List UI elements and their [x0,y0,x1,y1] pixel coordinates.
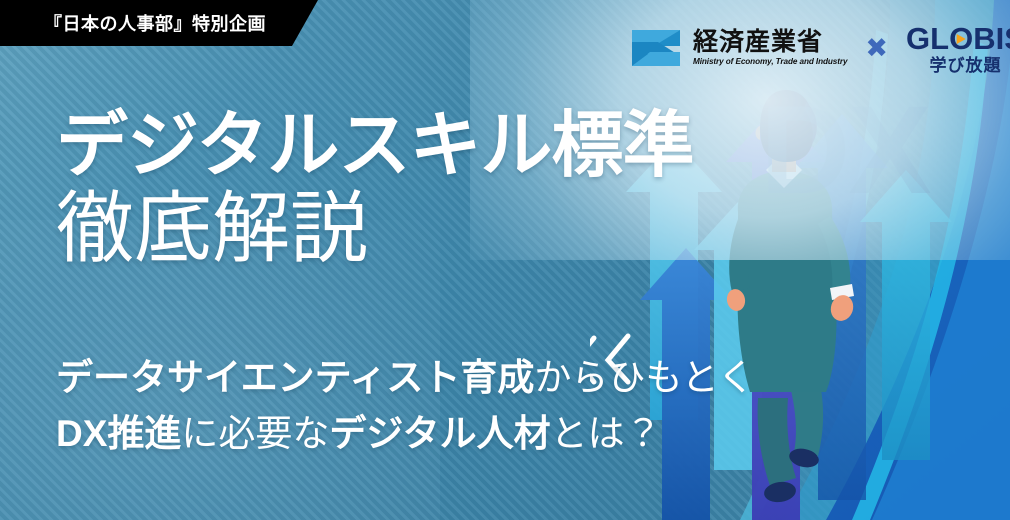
ribbon-label: 『日本の人事部』特別企画 [44,10,266,36]
subtitle-line-1-bold: データサイエンティスト育成 [56,357,534,398]
play-triangle-icon [957,34,966,44]
globis-word-part-bis: BIS [973,23,1010,54]
subtitle-line-2-bold-a: DX推進 [56,413,181,454]
globis-word-part-o: O [949,23,973,54]
meti-logo[interactable]: 経済産業省 Ministry of Economy, Trade and Ind… [628,22,847,74]
meti-logo-icon [628,22,684,74]
globis-wordmark: GL O BIS [906,23,1010,54]
subtitle-block: データサイエンティスト育成からひもとく DX推進に必要なデジタル人材とは？ [56,350,755,462]
partner-logo-row: 経済産業省 Ministry of Economy, Trade and Ind… [628,22,1010,74]
globis-logo[interactable]: GL O BIS 学び放題 [906,23,1010,74]
subtitle-line-2: DX推進に必要なデジタル人材とは？ [56,406,755,462]
globis-word-part-gl: GL [906,23,949,54]
meti-name-jp: 経済産業省 [693,30,847,55]
subtitle-line-1-light: からひもとく [534,357,754,398]
headline-line-2: 徹底解説 [56,188,694,270]
meti-name-en: Ministry of Economy, Trade and Industry [693,58,847,66]
subtitle-line-2-light-a: に必要な [181,413,329,454]
promo-banner: DX 『日本の人事部』特別企画 経済産業省 Ministry of Econom… [0,0,1010,520]
page-title: デジタルスキル標準 徹底解説 [56,110,694,270]
subtitle-line-1: データサイエンティスト育成からひもとく [56,350,755,406]
subtitle-line-2-light-b: とは？ [551,413,662,454]
globis-subtitle: 学び放題 [929,57,1001,74]
special-feature-ribbon: 『日本の人事部』特別企画 [0,0,318,46]
subtitle-line-2-bold-b: デジタル人材 [329,413,550,454]
logo-separator-x: ✖ [865,35,888,62]
headline-line-1: デジタルスキル標準 [56,110,694,182]
